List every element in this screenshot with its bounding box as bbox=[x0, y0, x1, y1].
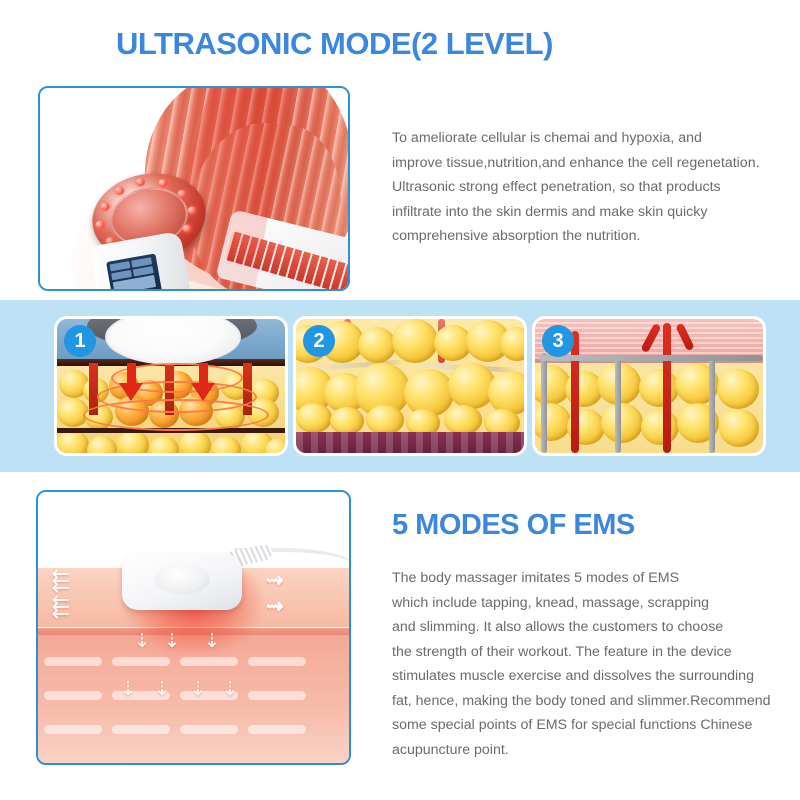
stimulation-arrow-left-icon: ⬱ bbox=[52, 596, 69, 617]
fat-cell bbox=[117, 430, 149, 453]
blood-vessel bbox=[663, 323, 671, 453]
muscle-fiber bbox=[248, 691, 306, 700]
ems-electrode-pad bbox=[122, 554, 242, 610]
step-panel-2: 2 bbox=[296, 319, 524, 453]
fat-cell bbox=[211, 436, 241, 453]
connective-fiber bbox=[541, 353, 547, 453]
fat-cell bbox=[601, 403, 643, 443]
stimulation-arrow-down-icon: ⇣ bbox=[222, 680, 238, 699]
ems-description: The body massager imitates 5 modes of EM… bbox=[392, 566, 792, 762]
fat-cell bbox=[639, 369, 679, 407]
connective-fiber bbox=[615, 355, 621, 453]
led-light-icon bbox=[177, 189, 187, 198]
muscle-fiber bbox=[248, 657, 306, 666]
led-light-icon bbox=[158, 178, 168, 187]
ultrasonic-device-photo bbox=[38, 86, 350, 291]
stimulation-arrow-left-icon: ⬱ bbox=[52, 570, 69, 591]
stimulation-arrow-down-icon: ⇣ bbox=[154, 680, 170, 699]
ems-illustration: ⬱ ⬱ ⇝ ⇝ ⇣ ⇣ ⇣ ⇣ ⇣ ⇣ ⇣ bbox=[36, 490, 351, 765]
blood-vessel bbox=[571, 331, 579, 453]
fat-cell bbox=[366, 405, 404, 435]
step-badge-1: 1 bbox=[64, 325, 96, 357]
step-panel-1: 1 bbox=[57, 319, 285, 453]
muscle-fiber bbox=[180, 725, 238, 734]
steps-section: 1 2 bbox=[0, 300, 800, 472]
step-badge-2: 2 bbox=[303, 325, 335, 357]
fat-cell bbox=[717, 369, 759, 409]
step-badge-3: 3 bbox=[542, 325, 574, 357]
ultrasound-wave-ring bbox=[83, 399, 269, 431]
led-light-icon bbox=[95, 220, 105, 229]
ultrasonic-heading: ULTRASONIC MODE(2 LEVEL) bbox=[116, 26, 553, 62]
muscle-fiber bbox=[248, 725, 306, 734]
led-light-icon bbox=[182, 224, 192, 233]
led-light-icon bbox=[100, 202, 110, 211]
muscle-fiber bbox=[112, 725, 170, 734]
led-light-icon bbox=[114, 186, 124, 195]
stimulation-arrow-down-icon: ⇣ bbox=[120, 680, 136, 699]
fat-cell bbox=[179, 430, 211, 453]
stimulation-arrow-right-icon: ⇝ bbox=[266, 570, 284, 591]
muscle-fiber bbox=[44, 657, 102, 666]
fat-cell bbox=[87, 436, 117, 453]
stimulation-arrow-down-icon: ⇣ bbox=[204, 632, 220, 651]
penetration-arrow bbox=[119, 383, 143, 401]
led-light-icon bbox=[187, 206, 197, 215]
fat-cell bbox=[57, 430, 89, 453]
led-light-icon bbox=[135, 177, 145, 186]
ultrasonic-section: ULTRASONIC MODE(2 LEVEL) bbox=[0, 0, 800, 300]
stimulation-arrow-down-icon: ⇣ bbox=[134, 632, 150, 651]
fat-cell bbox=[719, 409, 759, 447]
fat-cell bbox=[641, 409, 679, 445]
fat-cell bbox=[392, 319, 438, 363]
ems-pad-dome bbox=[154, 564, 210, 594]
connective-fiber bbox=[709, 355, 715, 453]
fat-cell bbox=[296, 403, 332, 433]
stimulation-arrow-down-icon: ⇣ bbox=[190, 680, 206, 699]
step-panel-3: 3 bbox=[535, 319, 763, 453]
device-lcd-screen bbox=[106, 253, 163, 291]
connective-fiber bbox=[539, 355, 763, 361]
muscle-fiber bbox=[44, 691, 102, 700]
ems-section: ⬱ ⬱ ⇝ ⇝ ⇣ ⇣ ⇣ ⇣ ⇣ ⇣ ⇣ 5 MODES OF EMS The… bbox=[0, 472, 800, 800]
fat-cell bbox=[358, 327, 396, 363]
penetration-arrow bbox=[127, 363, 136, 385]
stimulation-arrow-down-icon: ⇣ bbox=[164, 632, 180, 651]
penetration-arrow bbox=[199, 363, 208, 385]
muscle-fiber bbox=[44, 725, 102, 734]
penetration-arrow bbox=[191, 383, 215, 401]
ems-heading: 5 MODES OF EMS bbox=[392, 509, 635, 542]
muscle-fiber bbox=[180, 657, 238, 666]
muscle-layer bbox=[296, 432, 524, 453]
muscle-fiber bbox=[112, 657, 170, 666]
stimulation-arrow-right-icon: ⇝ bbox=[266, 596, 284, 617]
fat-cell bbox=[149, 436, 179, 453]
fat-cell bbox=[444, 405, 482, 435]
ultrasonic-description: To ameliorate cellular is chemai and hyp… bbox=[392, 126, 782, 249]
